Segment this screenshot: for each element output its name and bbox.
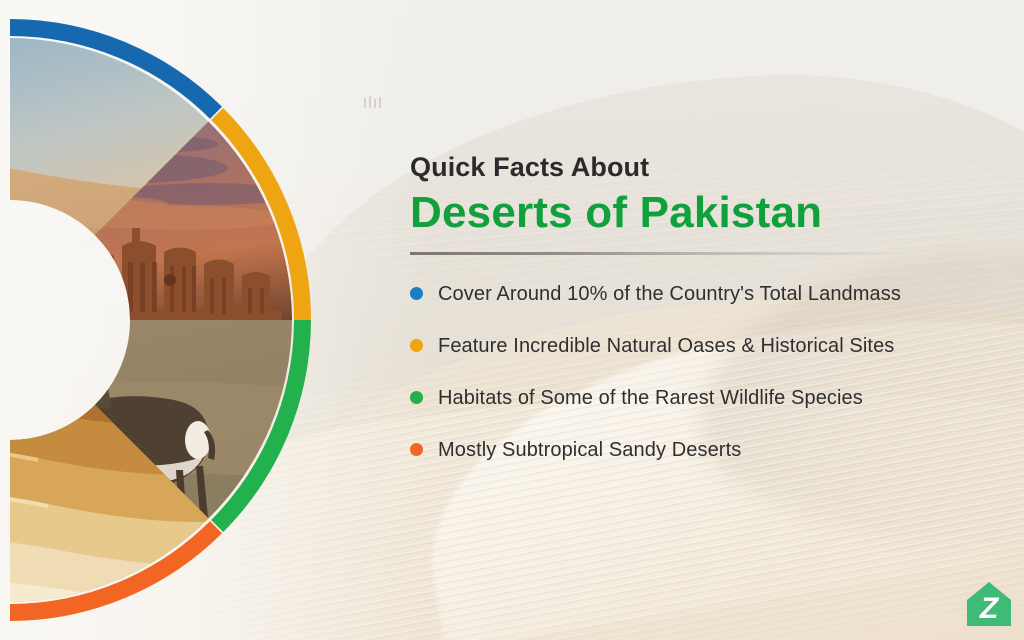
list-item: Habitats of Some of the Rarest Wildlife … (410, 385, 970, 411)
page-title: Deserts of Pakistan (410, 187, 970, 239)
list-item-label: Mostly Subtropical Sandy Deserts (438, 437, 741, 463)
facts-panel: Quick Facts About Deserts of Pakistan Co… (410, 152, 970, 463)
bullet-dot-icon (410, 339, 423, 352)
title-divider (410, 252, 910, 255)
facts-list: Cover Around 10% of the Country's Total … (410, 281, 970, 463)
zameen-house-logo[interactable]: Z (963, 578, 1015, 630)
list-item: Mostly Subtropical Sandy Deserts (410, 437, 970, 463)
photo-wheel (0, 18, 312, 622)
logo-letter: Z (979, 592, 1000, 625)
list-item-label: Habitats of Some of the Rarest Wildlife … (438, 385, 863, 411)
list-item-label: Cover Around 10% of the Country's Total … (438, 281, 901, 307)
list-item-label: Feature Incredible Natural Oases & Histo… (438, 333, 894, 359)
bullet-dot-icon (410, 443, 423, 456)
eyebrow-text: Quick Facts About (410, 152, 970, 183)
bullet-dot-icon (410, 391, 423, 404)
bullet-dot-icon (410, 287, 423, 300)
list-item: Feature Incredible Natural Oases & Histo… (410, 333, 970, 359)
list-item: Cover Around 10% of the Country's Total … (410, 281, 970, 307)
infographic-canvas: Quick Facts About Deserts of Pakistan Co… (0, 0, 1024, 640)
